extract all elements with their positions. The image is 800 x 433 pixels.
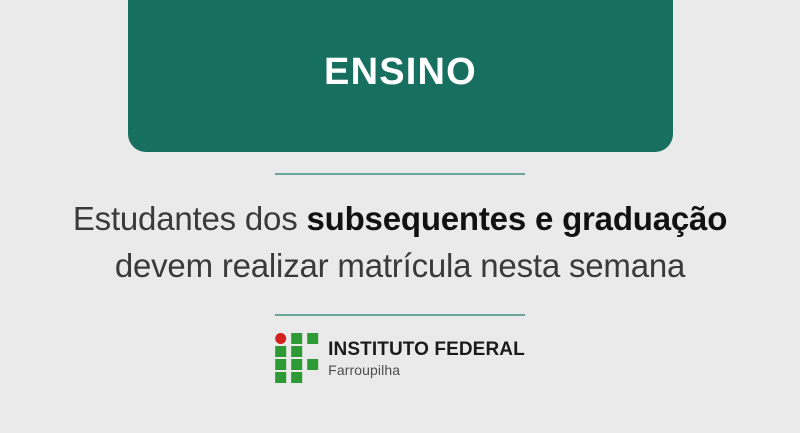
logo-cell-r2c1: [275, 346, 286, 357]
category-banner-title: ENSINO: [324, 53, 477, 91]
logo-secondary-text: Farroupilha: [328, 363, 525, 377]
divider-top: [275, 173, 525, 175]
logo-cell-r3c2: [291, 359, 302, 370]
headline-block: Estudantes dos subsequentes e graduação …: [0, 196, 800, 290]
instituto-federal-grid-mark-icon: [275, 333, 318, 383]
announcement-poster: ENSINO Estudantes dos subsequentes e gra…: [0, 0, 800, 433]
logo-cell-r4c2: [291, 372, 302, 383]
logo-cell-r3c3: [307, 359, 318, 370]
divider-bottom: [275, 314, 525, 316]
logo-cell-r4c1: [275, 372, 286, 383]
logo-cell-r1c3: [307, 333, 318, 344]
headline-line-1-bold: subsequentes e graduação: [306, 200, 727, 237]
logo-wordmark: INSTITUTO FEDERAL Farroupilha: [328, 340, 525, 377]
headline-line-1: Estudantes dos subsequentes e graduação: [0, 196, 800, 243]
headline-line-1-light: Estudantes dos: [73, 200, 307, 237]
logo-cell-r2c2: [291, 346, 302, 357]
logo-cell-r3c1: [275, 359, 286, 370]
logo-primary-text: INSTITUTO FEDERAL: [328, 340, 525, 359]
institutional-logo: INSTITUTO FEDERAL Farroupilha: [275, 333, 525, 383]
headline-line-2: devem realizar matrícula nesta semana: [0, 243, 800, 290]
logo-cell-r1c2: [291, 333, 302, 344]
category-banner: ENSINO: [128, 0, 673, 152]
logo-red-dot-icon: [275, 333, 286, 344]
